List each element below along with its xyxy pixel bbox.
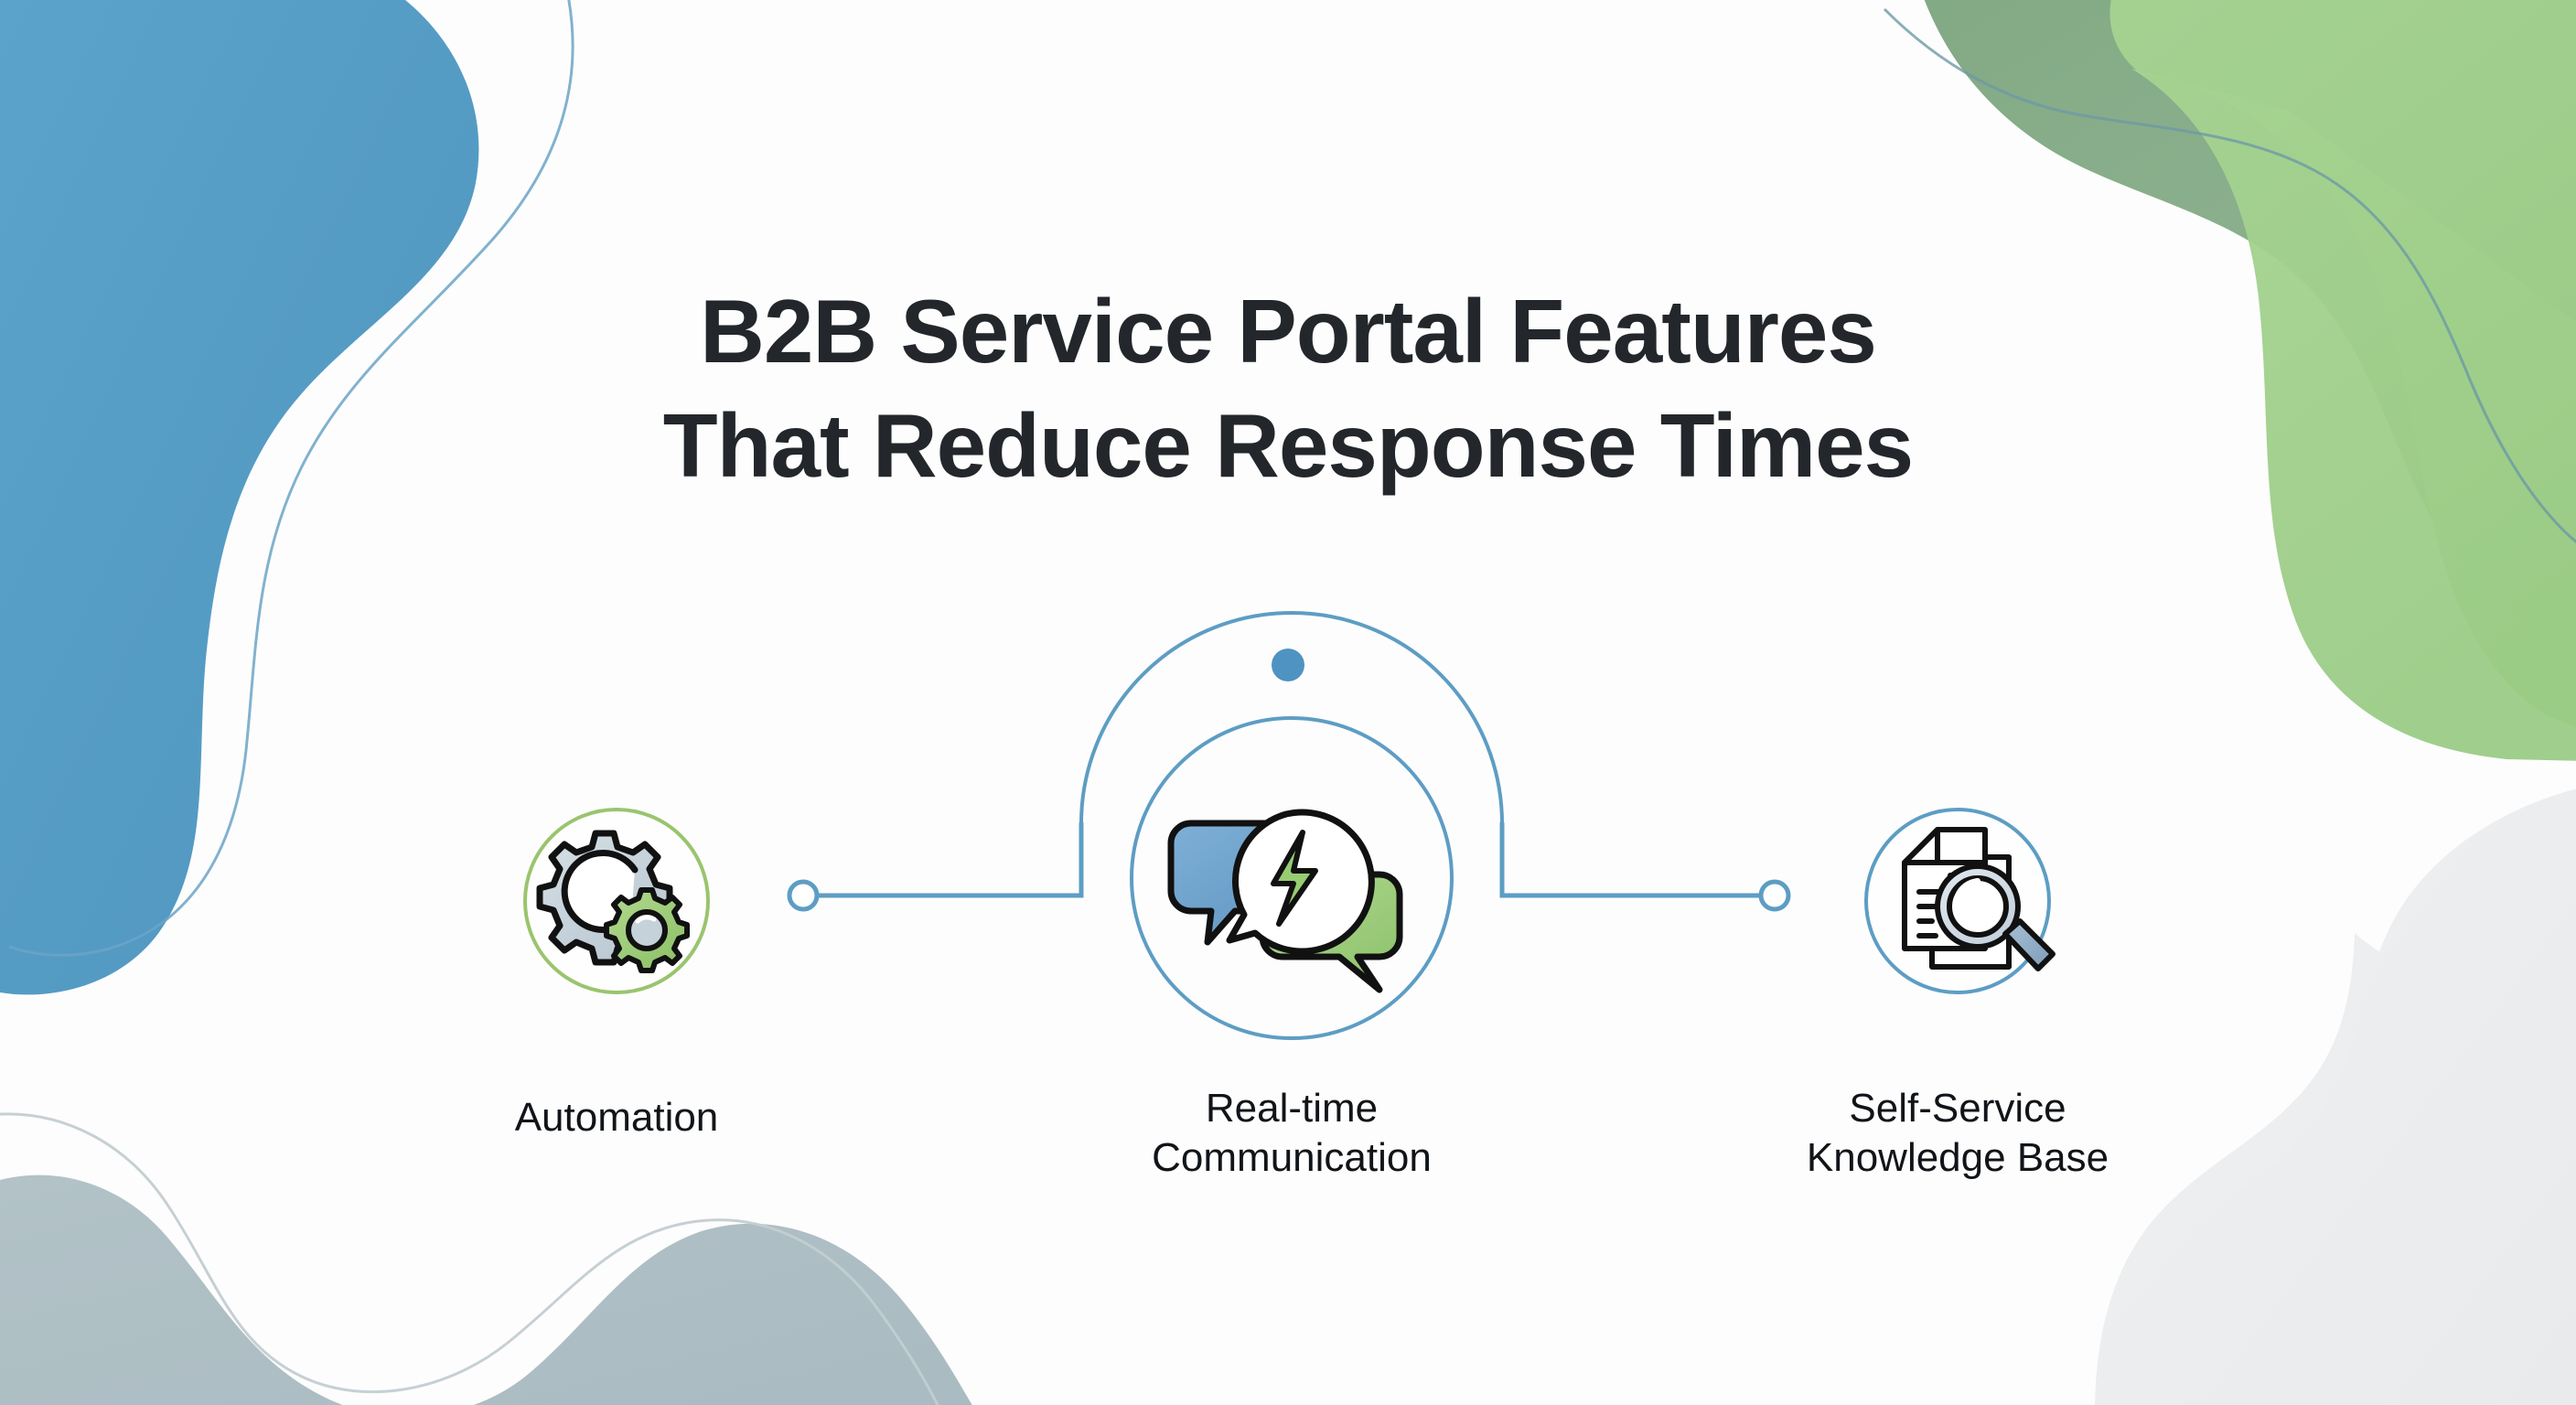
orbit-dot-icon (1272, 649, 1304, 681)
feature-diagram (0, 0, 2576, 1405)
connector-realtime-to-selfservice (1502, 823, 1788, 909)
connector-node-left (789, 882, 817, 909)
infographic-canvas: B2B Service Portal Features That Reduce … (0, 0, 2576, 1405)
node-real-time-communication[interactable] (1081, 613, 1502, 1089)
connector-automation-to-realtime (789, 823, 1081, 909)
node-self-service-knowledge-base[interactable] (1866, 810, 2053, 992)
node-automation[interactable] (525, 810, 708, 992)
connector-node-right (1761, 882, 1788, 909)
